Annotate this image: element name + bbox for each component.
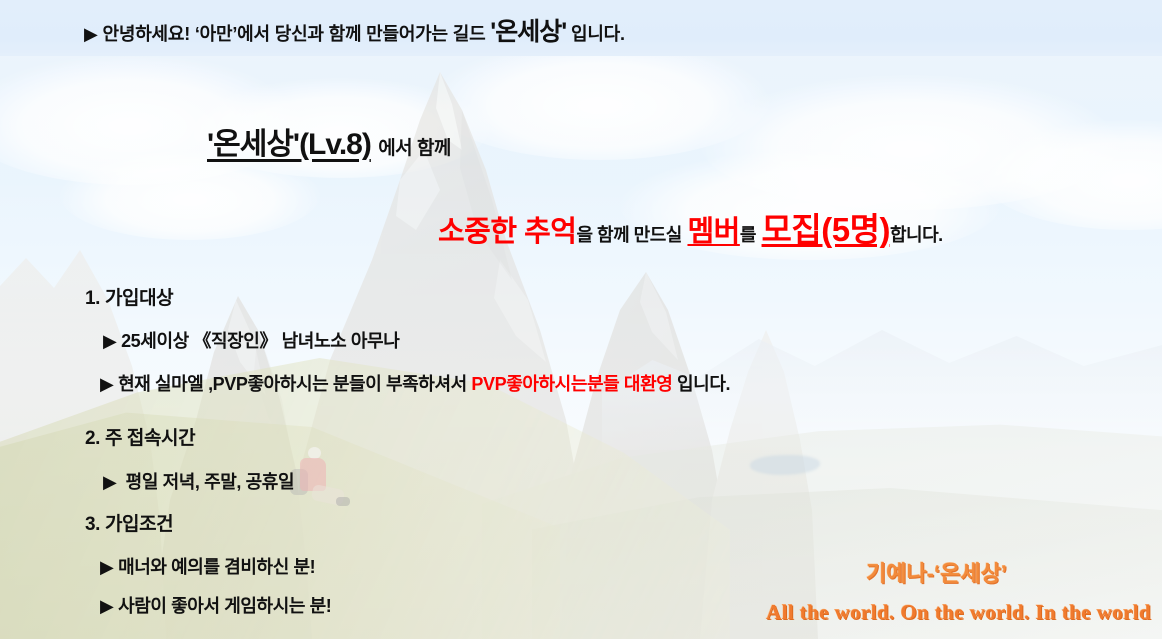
section-2-title: 주 접속시간 bbox=[105, 428, 195, 449]
section-1-item-2-highlight: PVP좋아하시는분들 대환영 bbox=[471, 374, 672, 394]
recruit-tail-text: 합니다. bbox=[890, 225, 943, 245]
recruit-count-word: 모집(5명) bbox=[762, 211, 890, 248]
intro-text-after: 입니다. bbox=[571, 24, 625, 44]
triangle-right-icon: ▶ bbox=[100, 557, 113, 577]
recruit-member-word: 멤버 bbox=[687, 216, 739, 248]
section-3-item-1-text: 매너와 예의를 겸비하신 분! bbox=[118, 557, 315, 577]
section-2-number: 2. bbox=[85, 428, 100, 449]
section-2-item-1-text: 평일 저녁, 주말, 공휴일 bbox=[126, 472, 294, 492]
recruit-particle: 를 bbox=[740, 225, 756, 245]
guild-recruitment-poster: ▶ 안녕하세요! ‘아만’에서 당신과 함께 만들어가는 길드 '온세상' 입니… bbox=[0, 0, 1162, 639]
section-3-title: 가입조건 bbox=[105, 514, 173, 535]
intro-line: ▶ 안녕하세요! ‘아만’에서 당신과 함께 만들어가는 길드 '온세상' 입니… bbox=[84, 12, 625, 48]
triangle-right-icon: ▶ bbox=[84, 24, 98, 44]
section-heading-3: 3. 가입조건 bbox=[85, 509, 173, 536]
recruit-red-lead: 소중한 추억 bbox=[438, 216, 576, 248]
section-3-number: 3. bbox=[85, 514, 100, 535]
guild-name-level: '온세상'(Lv.8) bbox=[207, 128, 371, 161]
section-1-item-2-post: 입니다. bbox=[677, 374, 730, 394]
section-heading-1: 1. 가입대상 bbox=[85, 283, 173, 310]
guild-level-line: '온세상'(Lv.8) 에서 함께 bbox=[207, 119, 451, 163]
section-3-item-2-text: 사람이 좋아서 게임하시는 분! bbox=[118, 596, 331, 616]
section-1-item-1-text: 25세이상 《직장인》 남녀노소 아무나 bbox=[121, 331, 399, 351]
intro-guild-name: '온세상' bbox=[490, 18, 566, 46]
signature-name: 기예나-‘온세상’ bbox=[866, 556, 1007, 588]
signature-motto: All the world. On the world. In the worl… bbox=[766, 600, 1151, 625]
triangle-right-icon: ▶ bbox=[100, 596, 113, 616]
guild-line-suffix: 에서 함께 bbox=[378, 138, 451, 159]
triangle-right-icon: ▶ bbox=[103, 331, 116, 351]
recruit-mid-text: 을 함께 만드실 bbox=[576, 225, 681, 245]
section-1-title: 가입대상 bbox=[105, 288, 173, 309]
section-3-item-2: ▶ 사람이 좋아서 게임하시는 분! bbox=[100, 592, 331, 618]
poster-text-layer: ▶ 안녕하세요! ‘아만’에서 당신과 함께 만들어가는 길드 '온세상' 입니… bbox=[0, 0, 1162, 639]
section-2-item-1: ▶ 평일 저녁, 주말, 공휴일 bbox=[103, 468, 294, 494]
triangle-right-icon: ▶ bbox=[103, 472, 116, 492]
section-1-item-2: ▶ 현재 실마엘 ,PVP좋아하시는 분들이 부족하셔서 PVP좋아하시는분들 … bbox=[100, 370, 730, 396]
section-1-number: 1. bbox=[85, 288, 100, 309]
section-1-item-2-pre: 현재 실마엘 ,PVP좋아하시는 분들이 부족하셔서 bbox=[118, 374, 467, 394]
section-1-item-1: ▶ 25세이상 《직장인》 남녀노소 아무나 bbox=[103, 327, 399, 353]
intro-text-before: 안녕하세요! ‘아만’에서 당신과 함께 만들어가는 길드 bbox=[102, 24, 485, 44]
triangle-right-icon: ▶ bbox=[100, 374, 113, 394]
section-3-item-1: ▶ 매너와 예의를 겸비하신 분! bbox=[100, 553, 315, 579]
section-heading-2: 2. 주 접속시간 bbox=[85, 423, 195, 450]
recruit-headline: 소중한 추억을 함께 만드실 멤버를 모집(5명)합니다. bbox=[438, 203, 943, 251]
